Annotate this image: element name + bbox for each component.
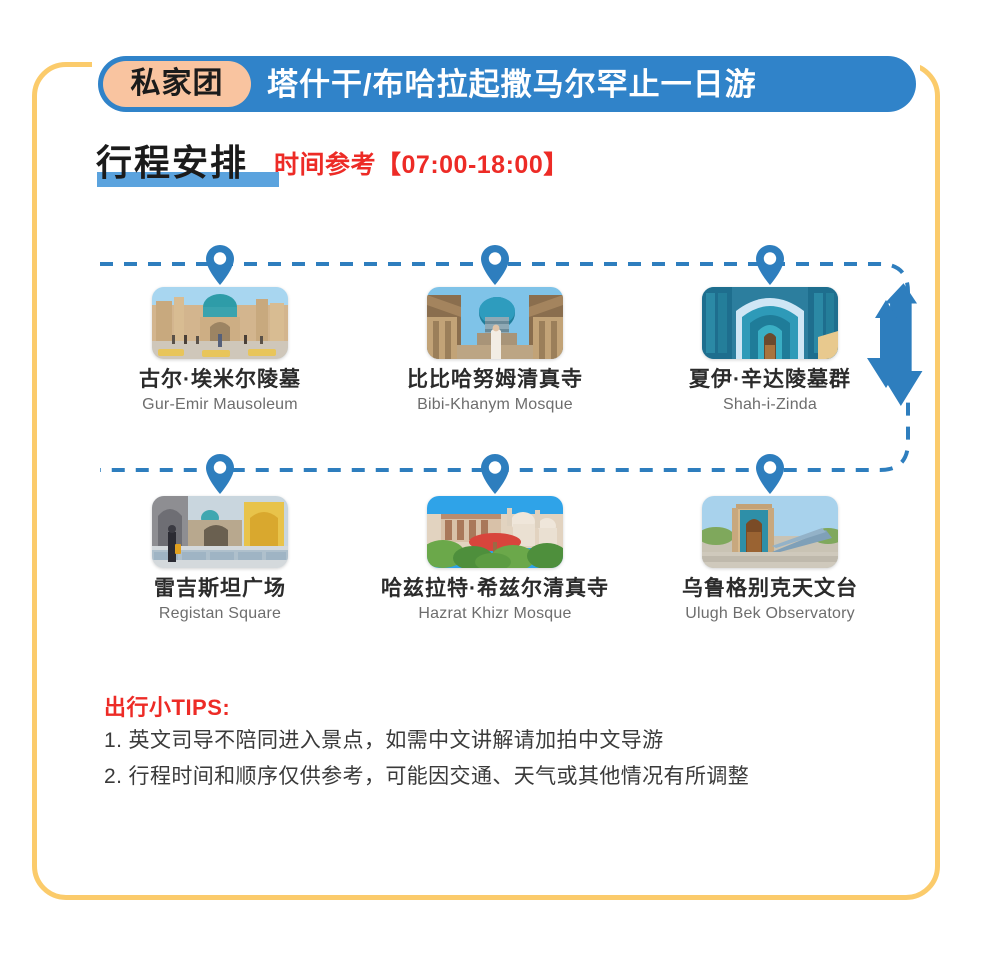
hazrat-khizr-photo xyxy=(427,496,563,568)
page-title: 塔什干/布哈拉起撒马尔罕止一日游 xyxy=(267,69,757,100)
tip-line: 2. 行程时间和顺序仅供参考，可能因交通、天气或其他情况有所调整 xyxy=(104,759,749,796)
header-bar: 私家团 塔什干/布哈拉起撒马尔罕止一日游 xyxy=(98,56,916,112)
map-pin-icon xyxy=(380,452,610,496)
tip-line: 1. 英文司导不陪同进入景点，如需中文讲解请加拍中文导游 xyxy=(104,723,749,760)
stop-card[interactable]: 比比哈努姆清真寺 Bibi-Khanym Mosque xyxy=(380,243,610,414)
stop-name-en: Ulugh Bek Observatory xyxy=(655,604,885,623)
ulugh-bek-photo xyxy=(702,496,838,568)
bibi-khanym-photo xyxy=(427,287,563,359)
stop-name-en: Registan Square xyxy=(105,604,335,623)
stop-card[interactable]: 乌鲁格别克天文台 Ulugh Bek Observatory xyxy=(655,452,885,623)
stop-card[interactable]: 雷吉斯坦广场 Registan Square xyxy=(105,452,335,623)
stop-name-en: Hazrat Khizr Mosque xyxy=(380,604,610,623)
map-pin-icon xyxy=(655,452,885,496)
travel-tips: 出行小TIPS: 1. 英文司导不陪同进入景点，如需中文讲解请加拍中文导游 2.… xyxy=(104,694,749,796)
section-title: 行程安排 xyxy=(96,144,248,182)
private-tour-badge-label: 私家团 xyxy=(131,69,224,99)
tips-title: 出行小TIPS: xyxy=(104,694,749,723)
stop-name-en: Shah-i-Zinda xyxy=(655,395,885,414)
map-pin-icon xyxy=(105,452,335,496)
map-pin-icon xyxy=(655,243,885,287)
stop-name-cn: 雷吉斯坦广场 xyxy=(105,577,335,601)
stop-card[interactable]: 古尔·埃米尔陵墓 Gur-Emir Mausoleum xyxy=(105,243,335,414)
stop-name-cn: 乌鲁格别克天文台 xyxy=(655,577,885,601)
map-pin-icon xyxy=(380,243,610,287)
section-heading: 行程安排 时间参考【07:00-18:00】 xyxy=(96,144,569,182)
gur-emir-photo xyxy=(152,287,288,359)
stop-name-cn: 夏伊·辛达陵墓群 xyxy=(655,368,885,392)
stop-card[interactable]: 哈兹拉特·希兹尔清真寺 Hazrat Khizr Mosque xyxy=(380,452,610,623)
map-pin-icon xyxy=(105,243,335,287)
shah-i-zinda-photo xyxy=(702,287,838,359)
private-tour-badge: 私家团 xyxy=(103,61,251,107)
registan-photo xyxy=(152,496,288,568)
stop-card[interactable]: 夏伊·辛达陵墓群 Shah-i-Zinda xyxy=(655,243,885,414)
stop-name-en: Bibi-Khanym Mosque xyxy=(380,395,610,414)
stop-name-cn: 比比哈努姆清真寺 xyxy=(380,368,610,392)
time-reference-note: 时间参考【07:00-18:00】 xyxy=(274,145,569,181)
section-title-wrap: 行程安排 xyxy=(96,144,248,182)
stop-name-en: Gur-Emir Mausoleum xyxy=(105,395,335,414)
stop-name-cn: 哈兹拉特·希兹尔清真寺 xyxy=(380,577,610,601)
stop-name-cn: 古尔·埃米尔陵墓 xyxy=(105,368,335,392)
